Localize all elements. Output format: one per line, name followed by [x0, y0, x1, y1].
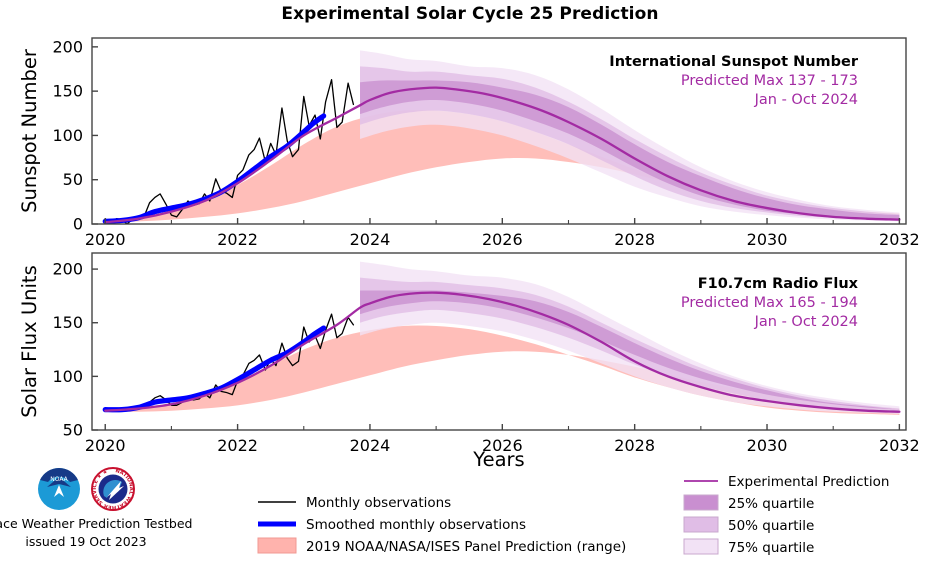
x-tick-label: 2028	[614, 230, 655, 249]
y-tick-label: 100	[52, 367, 83, 386]
x-tick-label: 2032	[879, 436, 920, 455]
panel-annotation-line-bottom-1: Jan - Oct 2024	[754, 314, 858, 330]
y-tick-label: 150	[52, 82, 83, 101]
panel-annotation-line-bottom-0: Predicted Max 165 - 194	[681, 295, 858, 311]
legend-label: Smoothed monthly observations	[306, 517, 526, 533]
x-axis-label: Years	[472, 448, 524, 471]
y-tick-label: 0	[73, 215, 83, 234]
legend-label: 25% quartile	[728, 496, 814, 512]
y-tick-label: 200	[52, 37, 83, 56]
y-tick-label: 100	[52, 126, 83, 145]
y-tick-label: 150	[52, 313, 83, 332]
y-tick-label: 50	[63, 170, 83, 189]
panel-annotation-line-top-0: Predicted Max 137 - 173	[681, 73, 858, 89]
legend-swatch	[684, 539, 718, 554]
solar-cycle-figure: 0501001502002020202220242026202820302032…	[0, 0, 940, 562]
legend-label: 2019 NOAA/NASA/ISES Panel Prediction (ra…	[306, 539, 626, 555]
legend-swatch	[258, 538, 296, 553]
x-tick-label: 2024	[350, 230, 391, 249]
panel-annotation-title-top: International Sunspot Number	[609, 54, 859, 70]
legend: Monthly observationsSmoothed monthly obs…	[258, 474, 889, 556]
legend-label: Monthly observations	[306, 495, 451, 511]
figure-title: Experimental Solar Cycle 25 Prediction	[0, 4, 940, 24]
x-tick-label: 2022	[217, 436, 258, 455]
y-tick-label: 200	[52, 260, 83, 279]
x-tick-label: 2028	[614, 436, 655, 455]
y-tick-label: 50	[63, 421, 83, 440]
logo-group: NOAANATIONAL WEATHER SERVICE ★ ★	[38, 468, 134, 510]
y-axis-label-bottom: Solar Flux Units	[18, 265, 41, 417]
x-tick-label: 2026	[482, 230, 523, 249]
noaa-logo: NOAA	[38, 468, 80, 510]
legend-label: 75% quartile	[728, 540, 814, 556]
panel-annotation-title-bottom: F10.7cm Radio Flux	[698, 276, 859, 292]
legend-label: Experimental Prediction	[728, 474, 889, 490]
national-weather-service-logo: NATIONAL WEATHER SERVICE ★ ★	[92, 468, 134, 510]
chart-panel-top: 0501001502002020202220242026202820302032…	[18, 37, 920, 249]
credit-line-2: issued 19 Oct 2023	[25, 534, 146, 549]
y-axis-label-top: Sunspot Number	[18, 48, 41, 213]
x-tick-label: 2032	[879, 230, 920, 249]
legend-label: 50% quartile	[728, 518, 814, 534]
chart-panel-bottom: 501001502002020202220242026202820302032S…	[18, 253, 920, 455]
credit-line-1: Space Weather Prediction Testbed	[0, 516, 192, 531]
legend-swatch	[684, 517, 718, 532]
x-tick-label: 2030	[747, 230, 788, 249]
x-tick-label: 2030	[747, 436, 788, 455]
legend-swatch	[684, 495, 718, 510]
x-tick-label: 2020	[85, 436, 126, 455]
noaa-wordmark: NOAA	[50, 476, 68, 483]
x-tick-label: 2024	[350, 436, 391, 455]
x-tick-label: 2022	[217, 230, 258, 249]
panel-annotation-line-top-1: Jan - Oct 2024	[754, 92, 858, 108]
x-tick-label: 2020	[85, 230, 126, 249]
